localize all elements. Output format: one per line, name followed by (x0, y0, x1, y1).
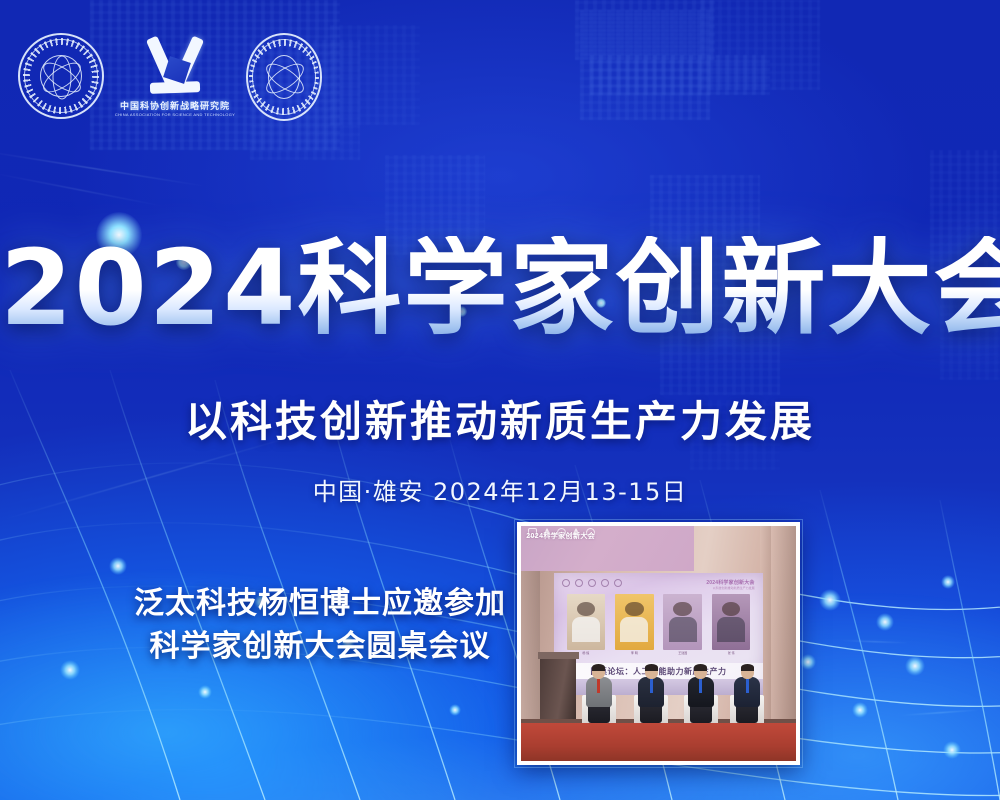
organizer-logos: 中国科协创新战略研究院 CHINA ASSOCIATION FOR SCIENC… (18, 33, 322, 125)
speaker-card (567, 594, 606, 650)
speaker-card (663, 594, 702, 650)
screen-speaker-names: 杨 恒 李 明 王建国 张 伟 (567, 651, 751, 663)
roundtable-photo: 2024科学家创新大会 2024科学家创新大会 以科技创新推动新质生产力发展 (517, 522, 800, 765)
page-subtitle: 以科技创新推动新质生产力发展 (0, 388, 1000, 449)
triangle-mark-label: 中国科协创新战略研究院 (120, 99, 230, 112)
screen-logo-row (562, 579, 622, 587)
speaker-card (712, 594, 751, 650)
caption-block: 泛太科技杨恒博士应邀参加 科学家创新大会圆桌会议 (130, 583, 510, 668)
page-title: 2024科学家创新大会 (0, 236, 1000, 340)
photo-banner-text: 2024科学家创新大会 (526, 531, 595, 541)
photo-podium-top (538, 652, 579, 659)
speaker-card (615, 594, 654, 650)
speaker-name: 李 明 (615, 651, 654, 663)
caption-line-2: 科学家创新大会圆桌会议 (130, 626, 510, 669)
circular-academy-seal-icon (18, 33, 104, 119)
caption-line-1: 泛太科技杨恒博士应邀参加 (130, 583, 510, 626)
screen-speaker-cards (567, 594, 751, 650)
triangle-mark-icon: 中国科协创新战略研究院 CHINA ASSOCIATION FOR SCIENC… (132, 33, 218, 125)
poster-canvas: 中国科协创新战略研究院 CHINA ASSOCIATION FOR SCIENC… (0, 0, 1000, 800)
event-dateline: 中国·雄安 2024年12月13-15日 (0, 472, 1000, 507)
triangle-mark-sublabel: CHINA ASSOCIATION FOR SCIENCE AND TECHNO… (115, 112, 235, 117)
speaker-name: 王建国 (663, 651, 702, 663)
speaker-name: 张 伟 (712, 651, 751, 663)
photo-stage-floor (521, 723, 796, 761)
screen-header-sub: 以科技创新推动新质生产力发展 (713, 586, 755, 590)
oval-institute-seal-icon (246, 33, 322, 121)
photo-top-banner: 2024科学家创新大会 (521, 526, 694, 571)
photo-podium (540, 655, 576, 718)
